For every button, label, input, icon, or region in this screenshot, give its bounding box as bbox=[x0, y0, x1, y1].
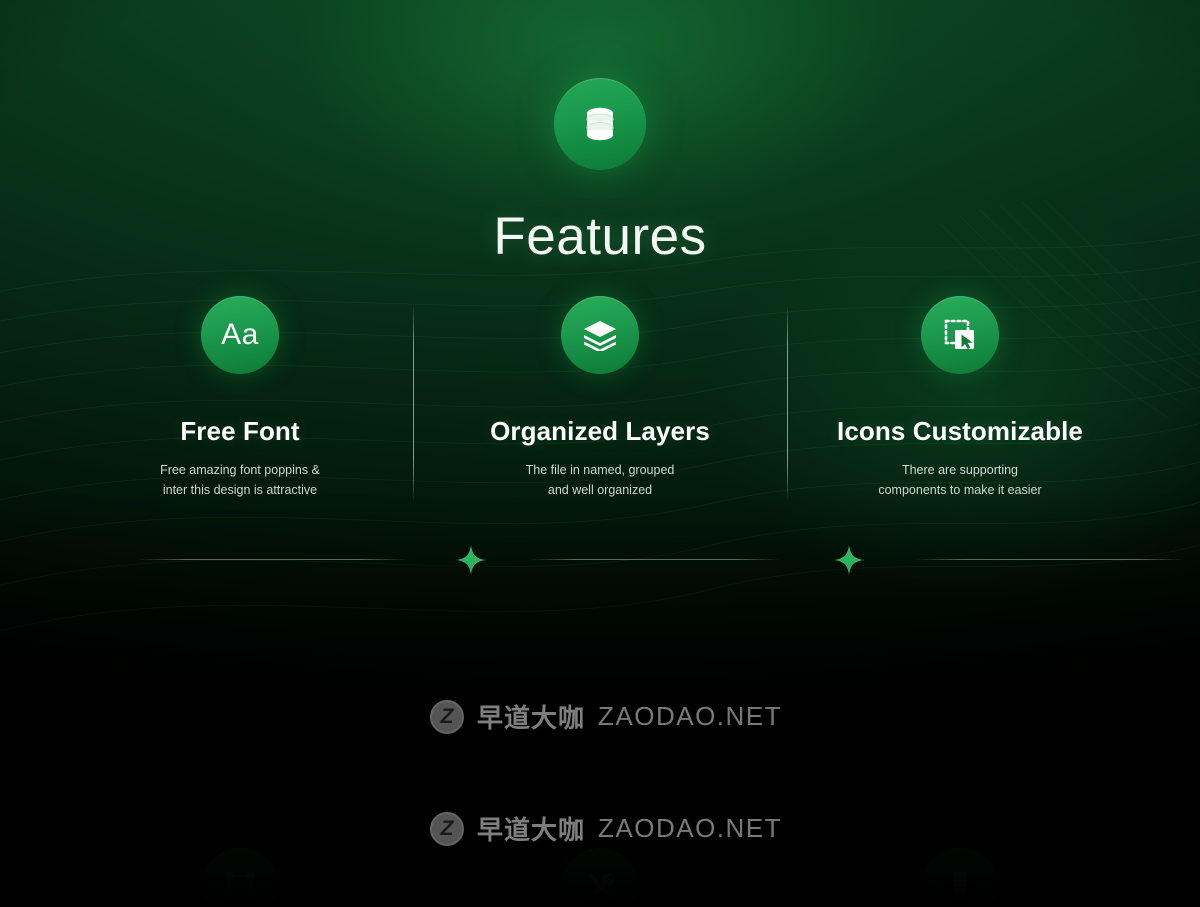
layers-icon bbox=[582, 319, 618, 351]
features-header: Features bbox=[0, 78, 1200, 267]
divider-line bbox=[138, 559, 408, 560]
feature-title: Icons Customizable bbox=[837, 416, 1083, 447]
divider-line bbox=[915, 559, 1185, 560]
feature-description-line: inter this design is attractive bbox=[160, 480, 320, 500]
section-divider bbox=[60, 559, 1140, 561]
sparkle-star-icon bbox=[834, 545, 864, 575]
feature-title: Free Font bbox=[180, 416, 299, 447]
feature-card-organized-layers[interactable]: Organized Layers The file in named, grou… bbox=[420, 296, 780, 532]
feature-description: Free amazing font poppins & inter this d… bbox=[160, 460, 320, 501]
feature-description: The file in named, grouped and well orga… bbox=[526, 460, 675, 501]
header-badge bbox=[554, 78, 646, 170]
feature-card-screens[interactable]: 40+ Screens All the components are provi… bbox=[780, 848, 1140, 907]
features-row-top: Aa Free Font Free amazing font poppins &… bbox=[60, 296, 1140, 532]
font-aa-icon: Aa bbox=[221, 318, 259, 352]
feature-description-line: and well organized bbox=[526, 480, 675, 500]
select-cursor-icon bbox=[942, 317, 978, 353]
feature-card-easy-customized[interactable]: Easy Customized 100% Easy To Change And … bbox=[420, 848, 780, 907]
features-row-bottom: Perfect Pixels Distance and measure usin… bbox=[60, 848, 1140, 907]
feature-icon-circle bbox=[561, 848, 639, 907]
feature-description: There are supporting components to make … bbox=[878, 460, 1041, 501]
bounding-box-icon bbox=[222, 869, 258, 905]
feature-icon-circle bbox=[921, 848, 999, 907]
feature-description-line: The file in named, grouped bbox=[526, 460, 675, 480]
feature-description-line: components to make it easier bbox=[878, 480, 1041, 500]
feature-icon-circle: Aa bbox=[201, 296, 279, 374]
mobile-phone-icon bbox=[942, 869, 978, 905]
feature-title: Organized Layers bbox=[490, 416, 710, 447]
feature-card-free-font[interactable]: Aa Free Font Free amazing font poppins &… bbox=[60, 296, 420, 532]
page-title: Features bbox=[493, 206, 706, 267]
tools-wrench-screwdriver-icon bbox=[582, 869, 618, 905]
feature-icon-circle bbox=[561, 296, 639, 374]
feature-icon-circle bbox=[201, 848, 279, 907]
divider-line bbox=[530, 559, 780, 560]
database-stack-icon bbox=[583, 106, 617, 142]
feature-icon-circle bbox=[921, 296, 999, 374]
feature-description-line: There are supporting bbox=[878, 460, 1041, 480]
feature-description-line: Free amazing font poppins & bbox=[160, 460, 320, 480]
features-section: Features Aa Free Font Free amazing font … bbox=[0, 0, 1200, 907]
feature-card-icons-customizable[interactable]: Icons Customizable There are supporting … bbox=[780, 296, 1140, 532]
feature-card-perfect-pixels[interactable]: Perfect Pixels Distance and measure usin… bbox=[60, 848, 420, 907]
sparkle-star-icon bbox=[456, 545, 486, 575]
features-grid: Aa Free Font Free amazing font poppins &… bbox=[60, 296, 1140, 907]
